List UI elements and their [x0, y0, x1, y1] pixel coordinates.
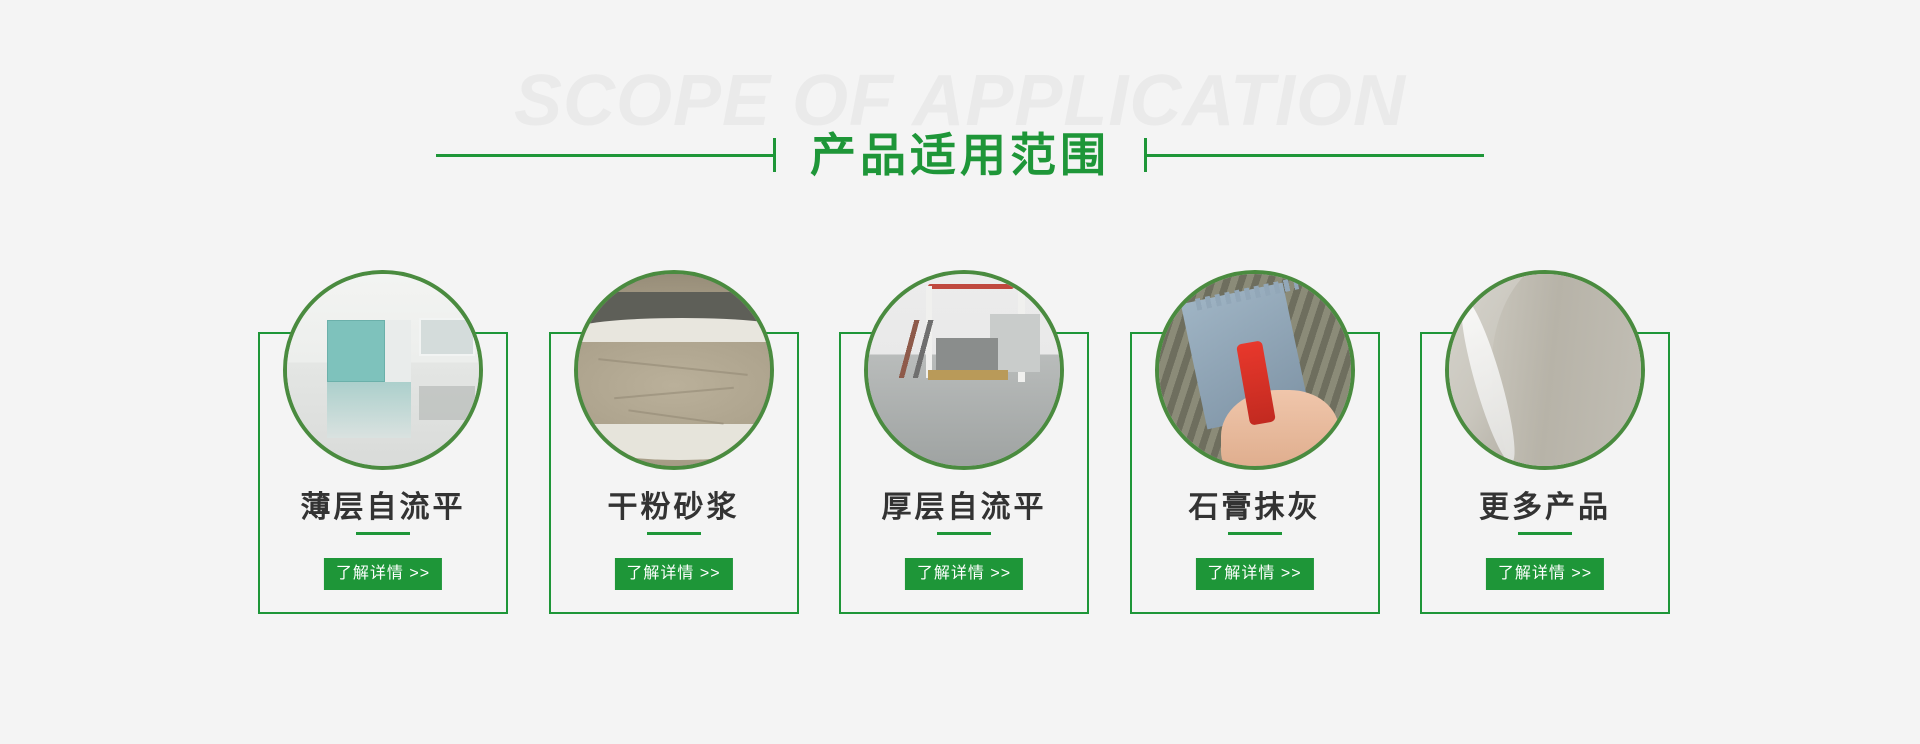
learn-more-button[interactable]: 了解详情 >>: [614, 558, 732, 590]
product-thumbnail[interactable]: [283, 270, 483, 470]
section-header: SCOPE OF APPLICATION 产品适用范围: [0, 0, 1920, 200]
product-thumbnail[interactable]: [1445, 270, 1645, 470]
learn-more-button[interactable]: 了解详情 >>: [324, 558, 442, 590]
rule-bar-right: [1147, 154, 1484, 157]
product-card[interactable]: 薄层自流平 了解详情 >>: [258, 270, 508, 614]
learn-more-button[interactable]: 了解详情 >>: [905, 558, 1023, 590]
title-divider: [1518, 532, 1572, 535]
learn-more-button[interactable]: 了解详情 >>: [1486, 558, 1604, 590]
product-thumbnail[interactable]: [574, 270, 774, 470]
product-title: 薄层自流平: [258, 482, 508, 526]
title-divider: [356, 532, 410, 535]
product-title: 石膏抹灰: [1130, 482, 1380, 526]
product-card[interactable]: 石膏抹灰 了解详情 >>: [1130, 270, 1380, 614]
thin-layer-self-leveling-floor-photo: [287, 274, 479, 466]
product-thumbnail[interactable]: [864, 270, 1064, 470]
title-divider: [1228, 532, 1282, 535]
rule-tick-left: [773, 138, 776, 172]
thick-layer-self-leveling-warehouse-photo: [868, 274, 1060, 466]
rule-bar-left: [436, 154, 773, 157]
product-title: 干粉砂浆: [549, 482, 799, 526]
product-card[interactable]: 更多产品 了解详情 >>: [1420, 270, 1670, 614]
title-row: 产品适用范围: [0, 120, 1920, 190]
more-products-glossy-floor-photo: [1449, 274, 1641, 466]
product-card[interactable]: 厚层自流平 了解详情 >>: [839, 270, 1089, 614]
product-card-list: 薄层自流平 了解详情 >> 干粉砂浆 了解详情 >>: [258, 270, 1670, 620]
product-thumbnail[interactable]: [1155, 270, 1355, 470]
product-title: 更多产品: [1420, 482, 1670, 526]
title-rule-right: [1144, 138, 1484, 172]
gypsum-plaster-trowel-photo: [1159, 274, 1351, 466]
title-divider: [937, 532, 991, 535]
title-divider: [647, 532, 701, 535]
learn-more-button[interactable]: 了解详情 >>: [1195, 558, 1313, 590]
page-title: 产品适用范围: [776, 132, 1144, 178]
product-title: 厚层自流平: [839, 482, 1089, 526]
product-card[interactable]: 干粉砂浆 了解详情 >>: [549, 270, 799, 614]
dry-powder-mortar-photo: [578, 274, 770, 466]
product-scope-section: SCOPE OF APPLICATION 产品适用范围: [0, 0, 1920, 744]
title-rule-left: [436, 138, 776, 172]
